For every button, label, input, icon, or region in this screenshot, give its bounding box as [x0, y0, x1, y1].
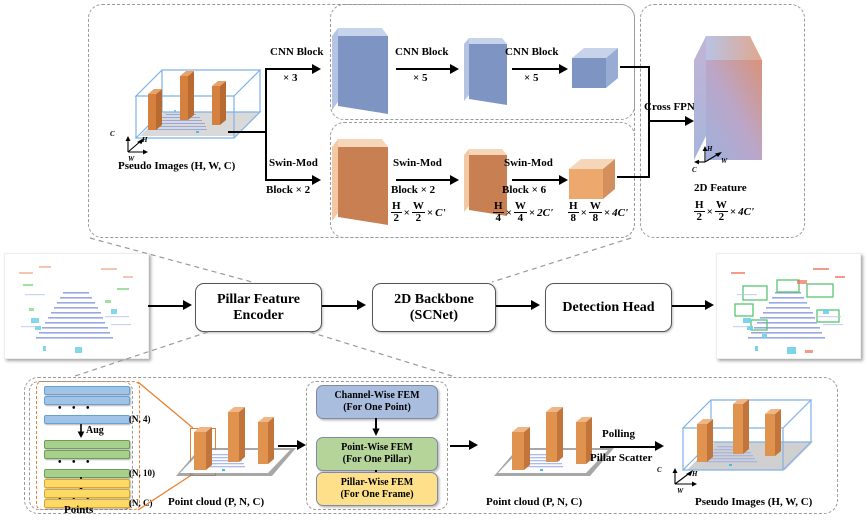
- encoder-pseudo-images-label: Pseudo Images (H, W, C): [695, 496, 812, 509]
- cnn-arrow-2-bottom: × 5: [413, 72, 428, 85]
- pipeline-arrow-2-head: [531, 300, 540, 310]
- encoder-pseudo-images-scene: [655, 384, 830, 496]
- cross-fpn-label: Cross FPN: [644, 101, 695, 114]
- encoder-arrow-from-fem-line: [450, 445, 470, 447]
- detection-head-line1: Detection Head: [562, 300, 654, 316]
- scatter-arrow-line: [600, 446, 656, 448]
- twod-shape-h-den: 2: [694, 212, 705, 223]
- fem-point-wise-line2: (For One Pillar): [343, 454, 412, 465]
- cnn-arrow-2-top: CNN Block: [395, 46, 448, 59]
- points-row-green-3: [44, 469, 130, 478]
- points-panel-label: Points: [64, 504, 93, 517]
- encoder-arrow-to-fem-head: [297, 440, 306, 450]
- pillar-feature-encoder-line1: Pillar Feature: [217, 292, 300, 307]
- swin-shape-1-w-den: 2: [412, 213, 425, 224]
- pipeline-arrow-out-line: [672, 305, 706, 307]
- pipeline-stage-detection-head[interactable]: Detection Head: [545, 283, 672, 332]
- twod-feature-shape: H 2 × W 2 × 4C': [694, 200, 754, 223]
- swin-shape-1: H 2 × W 2 × C': [391, 201, 446, 224]
- swin-shape-2-w-den: 4: [514, 213, 527, 224]
- twod-shape-ch: 4C': [738, 206, 754, 218]
- swin-shape-3-ch: 4C': [612, 207, 628, 219]
- swin-feature-cube: [567, 155, 617, 203]
- cnn-arrow-3-line: [512, 68, 560, 70]
- swin-shape-1-ch: C': [435, 207, 445, 219]
- twod-shape-w-den: 2: [715, 212, 728, 223]
- twod-feature-axes: [694, 144, 746, 170]
- backbone-split-bus-horizontal: [228, 131, 266, 133]
- swin-shape-2: H 4 × W 4 × 2C': [493, 201, 553, 224]
- fem-arrow-1: [371, 418, 381, 436]
- backbone-input-label: Pseudo Images (H, W, C): [118, 160, 235, 173]
- backbone-arrowhead-swin-1: [312, 175, 321, 185]
- fem-channel-wise-line1: Channel-Wise FEM: [334, 390, 419, 401]
- pipeline-arrow-in-head: [183, 300, 192, 310]
- fem-block-pillar-wise[interactable]: Pillar-Wise FEM (For One Frame): [316, 472, 438, 506]
- points-shape-green: (N, 10): [129, 468, 155, 478]
- backbone-input-axis-c: C: [110, 130, 115, 138]
- fpn-merge-to-output: [648, 120, 686, 122]
- fem-point-wise-line1: Point-Wise FEM: [341, 442, 413, 453]
- swin-shape-2-ch: 2C': [537, 207, 553, 219]
- cnn-arrow-3-head: [559, 64, 568, 74]
- pipeline-arrow-in-line: [148, 305, 184, 307]
- backbone-split-bus-to-cnn: [265, 68, 313, 70]
- cnn-feature-slab-1: [330, 22, 390, 114]
- twod-shape-times-2: ×: [730, 206, 736, 218]
- swin-arrow-3-bottom: Block × 6: [502, 184, 546, 197]
- swin-arrow-2-bottom: Block × 2: [391, 184, 435, 197]
- points-ellipsis-green: • • •: [58, 457, 94, 468]
- twod-feature-axis-h: H: [707, 145, 712, 153]
- swin-shape-1-h-den: 2: [391, 213, 402, 224]
- twod-feature-axis-w: W: [721, 157, 727, 165]
- encoder-output-pointcloud-scene: [478, 392, 618, 492]
- fem-channel-wise-text: Channel-Wise FEM (For One Point): [334, 390, 419, 414]
- pipeline-input-pointcloud-image: [4, 253, 149, 359]
- fpn-merge-bottom-stub: [617, 176, 650, 178]
- swin-shape-2-times-1: ×: [506, 207, 512, 219]
- pipeline-arrow-1-line: [322, 305, 358, 307]
- swin-shape-3: H 8 × W 8 × 4C': [568, 201, 628, 224]
- points-shape-blue: (N, 4): [129, 414, 151, 424]
- cnn-arrow-3-bottom: × 5: [524, 72, 539, 85]
- backbone-input-axis-h: H: [142, 136, 147, 144]
- swin-arrow-1-bottom: Block × 2: [266, 184, 310, 197]
- cnn-arrow-2-head: [450, 64, 459, 74]
- backbone-split-bus-to-swin: [265, 179, 313, 181]
- twod-backbone-line2: (SCNet): [410, 308, 458, 323]
- twod-feature-axis-c: C: [692, 166, 697, 174]
- swin-shape-3-times-2: ×: [604, 207, 610, 219]
- encoder-arrow-from-fem-head: [469, 440, 478, 450]
- points-row-green-1: [44, 440, 130, 449]
- swin-shape-3-w-den: 8: [589, 213, 602, 224]
- cnn-arrow-1-bottom: × 3: [283, 72, 298, 85]
- swin-shape-2-h: H 4: [493, 201, 504, 224]
- cnn-arrow-3-top: CNN Block: [505, 46, 558, 59]
- twod-backbone-text: 2D Backbone (SCNet): [394, 292, 474, 324]
- scatter-arrow-top-label: Polling: [602, 428, 635, 441]
- points-op-aug-label: Aug: [86, 425, 104, 437]
- encoder-pseudo-axis-w: W: [677, 487, 683, 495]
- pipeline-arrow-2-line: [496, 305, 532, 307]
- swin-arrow-3-line: [512, 179, 560, 181]
- cnn-arrow-2-line: [396, 68, 451, 70]
- swin-arrow-3-top: Swin-Mod: [504, 157, 553, 170]
- twod-feature-label: 2D Feature: [694, 182, 747, 195]
- swin-arrow-2-top: Swin-Mod: [393, 157, 442, 170]
- swin-shape-3-times-1: ×: [581, 207, 587, 219]
- swin-shape-3-h: H 8: [568, 201, 579, 224]
- swin-feature-slab-1: [330, 133, 390, 225]
- swin-arrow-2-line: [396, 179, 451, 181]
- pipeline-arrow-out-head: [705, 300, 714, 310]
- swin-shape-3-h-den: 8: [568, 213, 579, 224]
- swin-shape-2-w: W 4: [514, 201, 527, 224]
- encoder-pseudo-axis-c: C: [657, 466, 662, 474]
- fem-pillar-wise-line1: Pillar-Wise FEM: [341, 477, 414, 488]
- backbone-input-pseudo-image: [108, 52, 268, 162]
- encoder-pseudo-axis-h: H: [692, 470, 697, 478]
- cnn-feature-slab-2: [462, 33, 508, 105]
- twod-shape-times-1: ×: [707, 206, 713, 218]
- swin-shape-3-w: W 8: [589, 201, 602, 224]
- fpn-merge-top-stub: [620, 66, 650, 68]
- fem-point-wise-text: Point-Wise FEM (For One Pillar): [341, 442, 413, 466]
- twod-backbone-line1: 2D Backbone: [394, 292, 474, 307]
- twod-shape-w: W 2: [715, 200, 728, 223]
- encoder-output-pointcloud-label: Point cloud (P, N, C): [486, 496, 582, 509]
- swin-shape-2-times-2: ×: [529, 207, 535, 219]
- encoder-arrow-to-fem-line: [278, 445, 298, 447]
- cnn-feature-cube: [570, 44, 620, 92]
- pillar-feature-encoder-line2: Encoder: [233, 308, 284, 323]
- fem-block-channel-wise[interactable]: Channel-Wise FEM (For One Point): [316, 385, 438, 419]
- pipeline-stage-pillar-feature-encoder[interactable]: Pillar Feature Encoder: [195, 283, 322, 332]
- cnn-arrow-1-top: CNN Block: [270, 46, 323, 59]
- points-row-yellow-1: [44, 479, 130, 488]
- fem-pillar-wise-text: Pillar-Wise FEM (For One Frame): [340, 477, 413, 501]
- swin-shape-1-h: H 2: [391, 201, 402, 224]
- pipeline-arrow-1-head: [357, 300, 366, 310]
- swin-shape-1-w: W 2: [412, 201, 425, 224]
- pillar-feature-encoder-text: Pillar Feature Encoder: [217, 292, 300, 324]
- fem-pillar-wise-line2: (For One Frame): [340, 489, 413, 500]
- swin-shape-2-h-den: 4: [493, 213, 504, 224]
- swin-shape-1-times-2: ×: [427, 207, 433, 219]
- encoder-input-pointcloud-label: Point cloud (P, N, C): [168, 496, 264, 509]
- scatter-arrow-bottom-label: Pillar Scatter: [590, 452, 652, 465]
- fem-block-point-wise[interactable]: Point-Wise FEM (For One Pillar): [316, 437, 438, 471]
- fpn-merge-vertical: [648, 66, 650, 178]
- points-op-aug-arrow: [76, 424, 86, 438]
- pipeline-output-pointcloud-image: [716, 253, 861, 359]
- points-row-blue-3: [44, 415, 130, 424]
- points-shape-yellow: (N, C): [129, 498, 153, 508]
- twod-shape-h: H 2: [694, 200, 705, 223]
- swin-shape-1-times-1: ×: [404, 207, 410, 219]
- fem-channel-wise-line2: (For One Point): [343, 402, 411, 413]
- swin-arrow-2-head: [450, 175, 459, 185]
- swin-arrow-1-top: Swin-Mod: [269, 157, 318, 170]
- points-row-blue-1: [44, 386, 130, 395]
- encoder-input-pointcloud-scene: [160, 392, 300, 492]
- points-ellipsis-blue: • • •: [58, 403, 94, 414]
- backbone-arrowhead-cnn-1: [312, 64, 321, 74]
- pipeline-stage-2d-backbone[interactable]: 2D Backbone (SCNet): [372, 283, 496, 332]
- backbone-split-bus-vertical: [265, 68, 267, 180]
